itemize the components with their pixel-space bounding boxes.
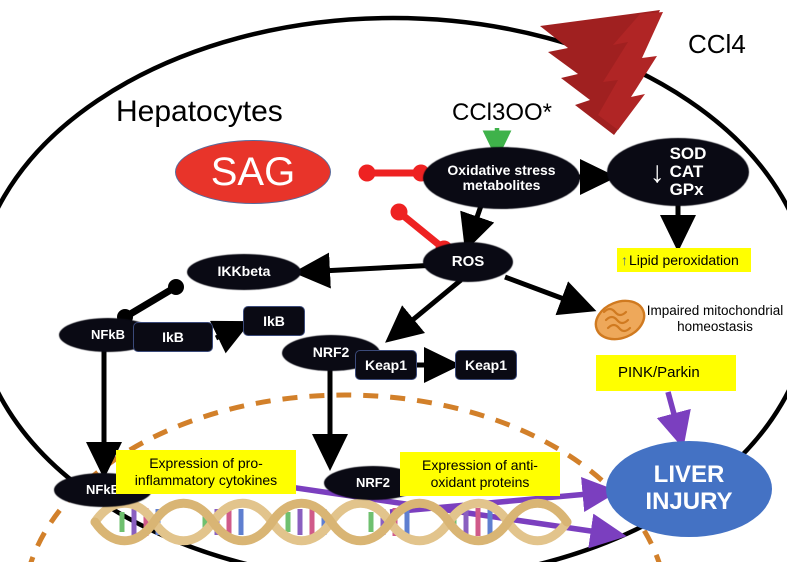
node-nfkb-cytoplasm-label: NFkB <box>91 328 125 342</box>
node-sag-label: SAG <box>211 150 295 195</box>
annotation-mito-line1: Impaired mitochondrial <box>647 303 784 319</box>
node-keap1-free[interactable]: Keap1 <box>455 350 517 380</box>
node-sag[interactable]: SAG <box>175 140 331 204</box>
annotation-mito-line2: homeostasis <box>677 319 753 335</box>
enzyme-sod: SOD <box>670 145 707 163</box>
page-title: Hepatocytes <box>116 95 283 129</box>
node-nfkb-nucleus-label: NFkB <box>86 483 120 497</box>
annotation-antioxidant-line1: Expression of anti- <box>422 457 538 474</box>
annotation-pro-inflammatory-cytokines: Expression of pro- inflammatory cytokine… <box>116 450 296 494</box>
node-ikb-bound[interactable]: IkB <box>133 322 213 352</box>
arrow-ros-to-mitochondria <box>505 277 588 308</box>
arrow-ikb-release <box>216 325 243 338</box>
dna-helix <box>95 503 567 541</box>
annotation-lipid-peroxidation: ↑ Lipid peroxidation <box>617 248 751 272</box>
node-liver-injury[interactable]: LIVER INJURY <box>606 441 772 537</box>
annotation-pink-parkin: PINK/Parkin <box>596 355 736 391</box>
node-oxidative-stress-line2: metabolites <box>463 178 541 193</box>
lipid-increase-arrow: ↑ <box>621 252 628 269</box>
node-keap1-bound-label: Keap1 <box>365 357 407 373</box>
node-keap1-bound[interactable]: Keap1 <box>355 350 417 380</box>
enzyme-decrease-arrow: ↓ <box>650 159 665 186</box>
arrow-ros-to-keap1 <box>392 280 461 337</box>
node-nrf2-cytoplasm-label: NRF2 <box>313 345 350 360</box>
node-nrf2-nucleus-label: NRF2 <box>356 476 390 490</box>
node-antioxidant-enzymes[interactable]: ↓ SOD CAT GPx <box>608 139 748 205</box>
enzyme-cat: CAT <box>670 163 704 181</box>
annotation-pink-parkin-text: PINK/Parkin <box>618 364 700 382</box>
ikkbeta-phospho-connector <box>117 279 184 325</box>
annotation-cytokines-line2: inflammatory cytokines <box>135 472 277 489</box>
annotation-cytokines-line1: Expression of pro- <box>149 455 263 472</box>
node-keap1-free-label: Keap1 <box>465 357 507 373</box>
annotation-mitochondrial-homeostasis: Impaired mitochondrial homeostasis <box>645 300 785 338</box>
radical-label: CCl3OO* <box>452 99 552 127</box>
node-oxidative-stress[interactable]: Oxidative stress metabolites <box>424 148 579 208</box>
node-liver-injury-line1: LIVER <box>654 462 725 489</box>
node-ros-label: ROS <box>452 254 485 270</box>
inhibition-sag-oxidative-stress <box>359 165 430 182</box>
node-ikb-bound-label: IkB <box>162 329 184 345</box>
node-ikkbeta[interactable]: IKKbeta <box>188 255 300 289</box>
arrow-ros-to-ikkbeta <box>302 265 438 272</box>
node-ikb-free-label: IkB <box>263 313 285 329</box>
annotation-antioxidant-proteins: Expression of anti- oxidant proteins <box>400 452 560 496</box>
mitochondrion-icon <box>590 294 650 346</box>
annotation-antioxidant-line2: oxidant proteins <box>431 474 530 491</box>
stimulus-label: CCl4 <box>688 29 746 60</box>
node-ikb-free[interactable]: IkB <box>243 306 305 336</box>
enzyme-gpx: GPx <box>670 181 704 199</box>
node-ikkbeta-label: IKKbeta <box>218 264 271 279</box>
arrow-mitophagy-to-liver-injury <box>668 392 681 440</box>
node-ros[interactable]: ROS <box>424 243 512 281</box>
node-oxidative-stress-line1: Oxidative stress <box>447 163 555 178</box>
pathway-diagram: Hepatocytes CCl4 CCl3OO* SAG Oxidative s… <box>0 0 787 562</box>
node-liver-injury-line2: INJURY <box>645 489 732 516</box>
ccl4-lightning-bolt <box>540 10 663 135</box>
annotation-lipid-peroxidation-text: Lipid peroxidation <box>629 252 739 269</box>
